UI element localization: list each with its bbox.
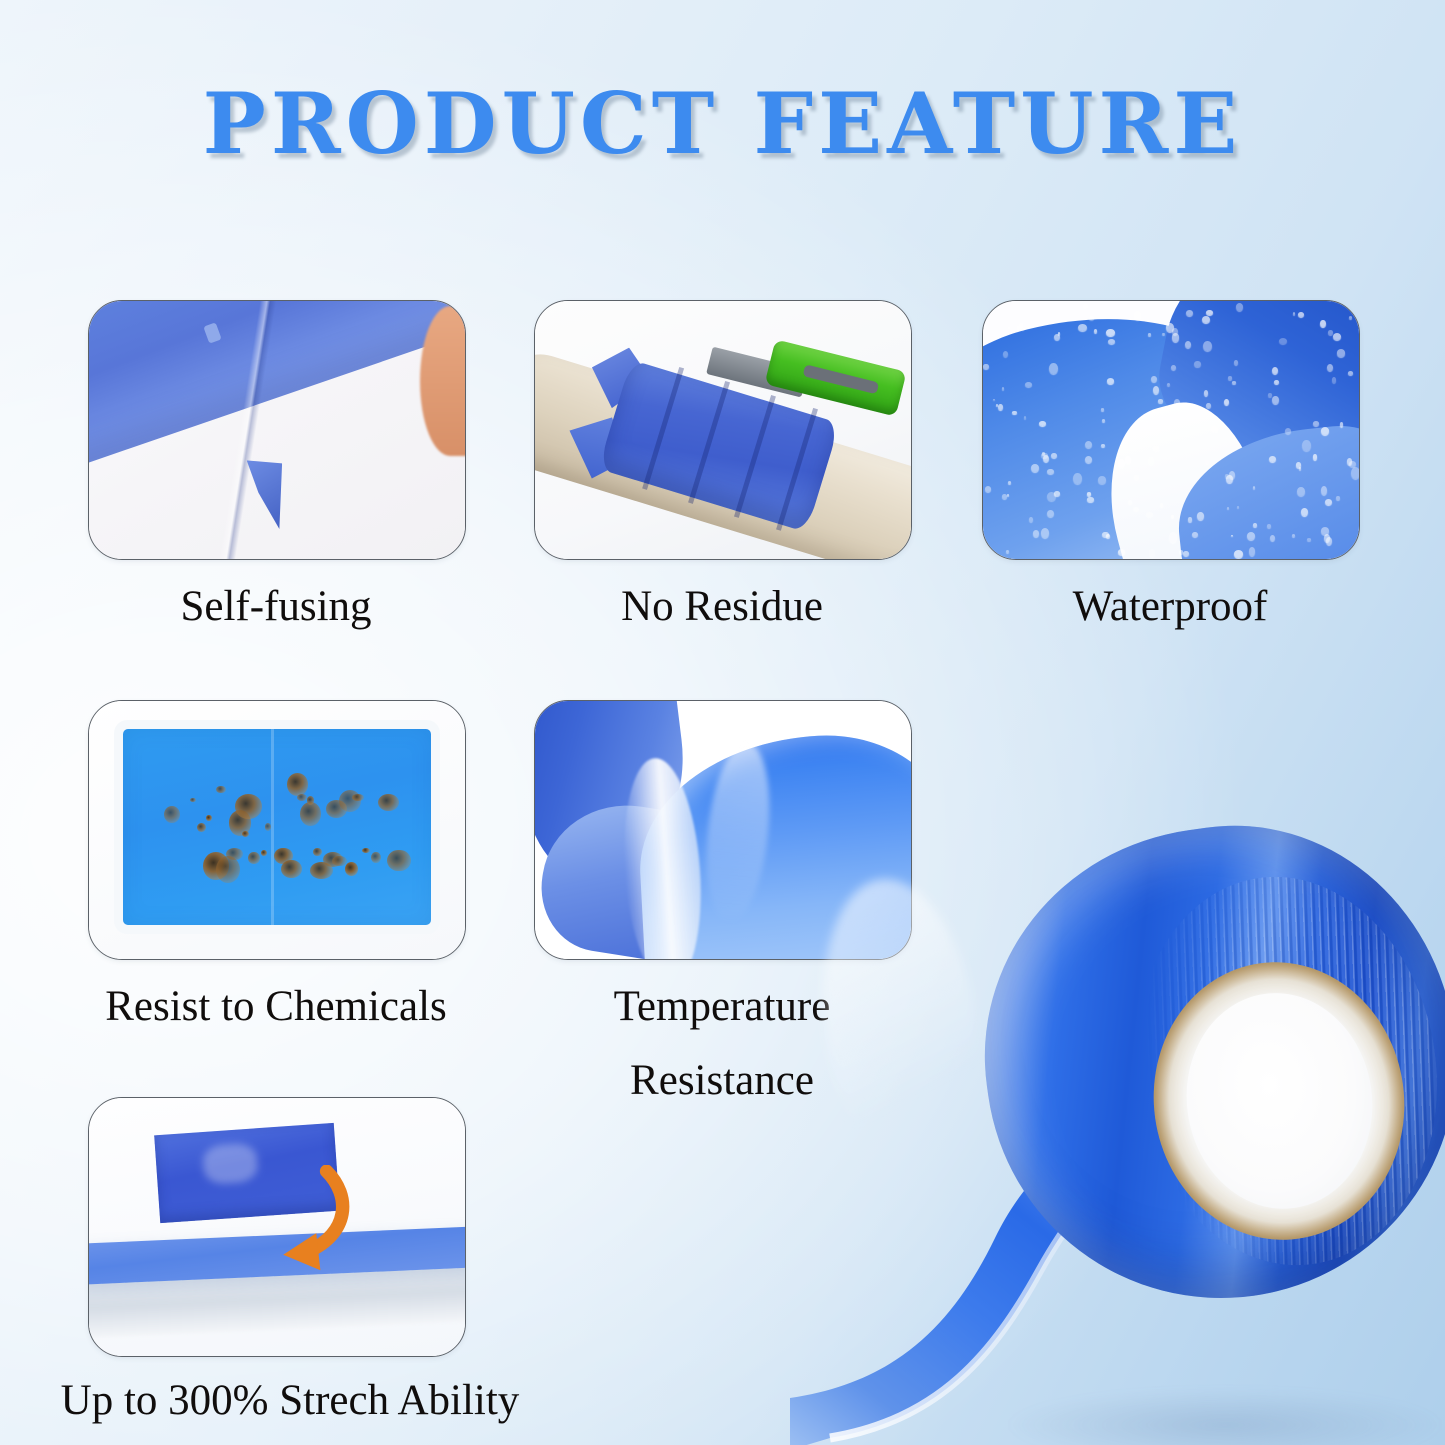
feature-label-resist-to-chemicals: Resist to Chemicals bbox=[50, 972, 502, 1042]
tape-roll bbox=[780, 820, 1445, 1445]
stretch-ability-image bbox=[89, 1098, 465, 1356]
feature-card-waterproof bbox=[982, 300, 1360, 560]
feature-card-no-residue bbox=[534, 300, 912, 560]
feature-label-stretch-ability: Up to 300% Strech Ability bbox=[0, 1366, 580, 1436]
infographic-canvas: PRODUCT FEATURE Self-fusing No Residue bbox=[0, 0, 1445, 1445]
feature-card-stretch-ability bbox=[88, 1097, 466, 1357]
feature-card-self-fusing bbox=[88, 300, 466, 560]
page-title: PRODUCT FEATURE bbox=[0, 74, 1445, 173]
curved-arrow-icon bbox=[239, 1165, 389, 1279]
feature-label-no-residue: No Residue bbox=[534, 572, 910, 642]
feature-label-waterproof: Waterproof bbox=[982, 572, 1358, 642]
waterproof-image bbox=[983, 301, 1359, 559]
tape-roll-shadow bbox=[1010, 1390, 1440, 1445]
resist-chemicals-image bbox=[89, 701, 465, 959]
feature-card-resist-to-chemicals bbox=[88, 700, 466, 960]
feature-label-self-fusing: Self-fusing bbox=[88, 572, 464, 642]
self-fusing-image bbox=[89, 301, 465, 559]
no-residue-image bbox=[535, 301, 911, 559]
